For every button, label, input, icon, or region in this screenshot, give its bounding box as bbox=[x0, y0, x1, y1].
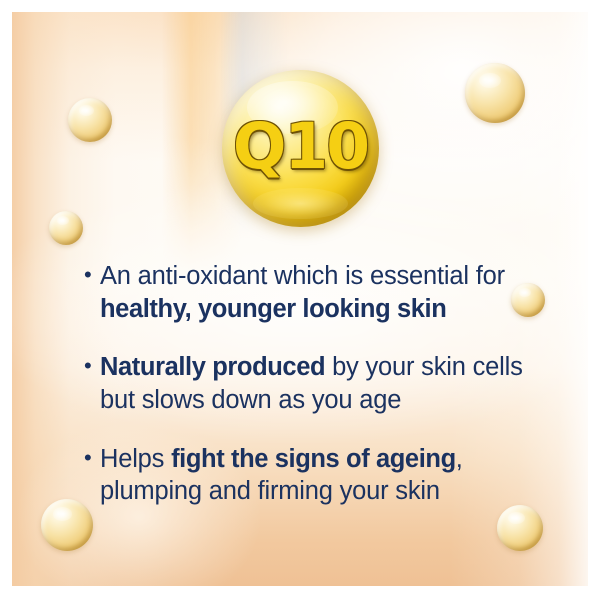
sphere-bounce-light-icon bbox=[253, 188, 347, 219]
bullet-marker-icon: • bbox=[84, 260, 100, 290]
droplet-bottom-right bbox=[497, 505, 543, 551]
bullet-text: Helps fight the signs of ageing, plumpin… bbox=[100, 443, 536, 508]
bullet-emphasis: Naturally produced bbox=[100, 353, 325, 381]
promo-poster: Q10 •An anti-oxidant which is essential … bbox=[12, 12, 588, 586]
q10-badge-label: Q10 bbox=[233, 115, 368, 178]
q10-badge-sphere: Q10 bbox=[222, 70, 379, 227]
bullet-item: •An anti-oxidant which is essential for … bbox=[84, 260, 536, 325]
bullet-emphasis: fight the signs of ageing bbox=[171, 445, 456, 473]
bullet-marker-icon: • bbox=[84, 351, 100, 381]
bullet-text: Naturally produced by your skin cells bu… bbox=[100, 351, 536, 416]
droplet-mid-left bbox=[49, 211, 83, 245]
bullet-item: •Helps fight the signs of ageing, plumpi… bbox=[84, 443, 536, 508]
droplet-top-left bbox=[68, 98, 112, 142]
benefit-bullet-list: •An anti-oxidant which is essential for … bbox=[84, 260, 536, 508]
bullet-plain: Helps bbox=[100, 445, 171, 473]
bullet-item: •Naturally produced by your skin cells b… bbox=[84, 351, 536, 416]
bullet-emphasis: healthy, younger looking skin bbox=[100, 295, 446, 323]
droplet-top-right bbox=[465, 63, 525, 123]
bullet-text: An anti-oxidant which is essential for h… bbox=[100, 260, 536, 325]
bullet-plain: An anti-oxidant which is essential for bbox=[100, 262, 505, 290]
bullet-marker-icon: • bbox=[84, 443, 100, 473]
